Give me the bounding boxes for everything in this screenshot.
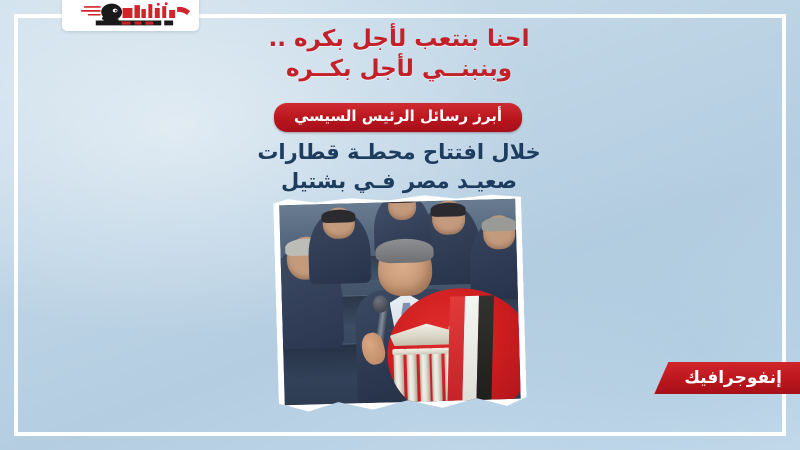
column <box>394 354 406 406</box>
column <box>406 353 418 405</box>
logo-inner <box>62 0 199 31</box>
subtitle-line-1: خلال افتتاح محطـة قطارات <box>234 138 564 167</box>
newspaper-logo-plate <box>62 0 199 31</box>
photo-inner <box>279 199 520 406</box>
subtitle: خلال افتتاح محطـة قطارات صعيـد مصر فـي ب… <box>234 138 564 195</box>
headline-line-1: احنا بنتعب لأجل بكره .. <box>234 24 564 54</box>
infographic-canvas: احنا بنتعب لأجل بكره .. وبنبنــي لأجل بك… <box>0 0 800 450</box>
infographic-banner-label: إنفوجرافيك <box>684 368 782 388</box>
president-sisi-photo <box>273 193 527 415</box>
column <box>419 353 431 405</box>
flag-stripe-black <box>477 295 495 405</box>
column <box>432 352 444 405</box>
headline-line-2: وبنبنــي لأجل بكــره <box>234 54 564 84</box>
infographic-banner: إنفوجرافيك <box>654 362 800 394</box>
topic-badge: أبرز رسائل الرئيس السيسي <box>274 103 522 132</box>
subtitle-line-2: صعيـد مصر فـي بشتيل <box>234 167 564 196</box>
microphone-head <box>373 295 388 313</box>
badge-wrapper: أبرز رسائل الرئيس السيسي <box>252 103 544 132</box>
hair <box>375 238 434 264</box>
egypt-flag <box>447 295 494 405</box>
headline: احنا بنتعب لأجل بكره .. وبنبنــي لأجل بك… <box>234 24 564 85</box>
sawt-al-umma-logo-icon <box>66 2 193 29</box>
